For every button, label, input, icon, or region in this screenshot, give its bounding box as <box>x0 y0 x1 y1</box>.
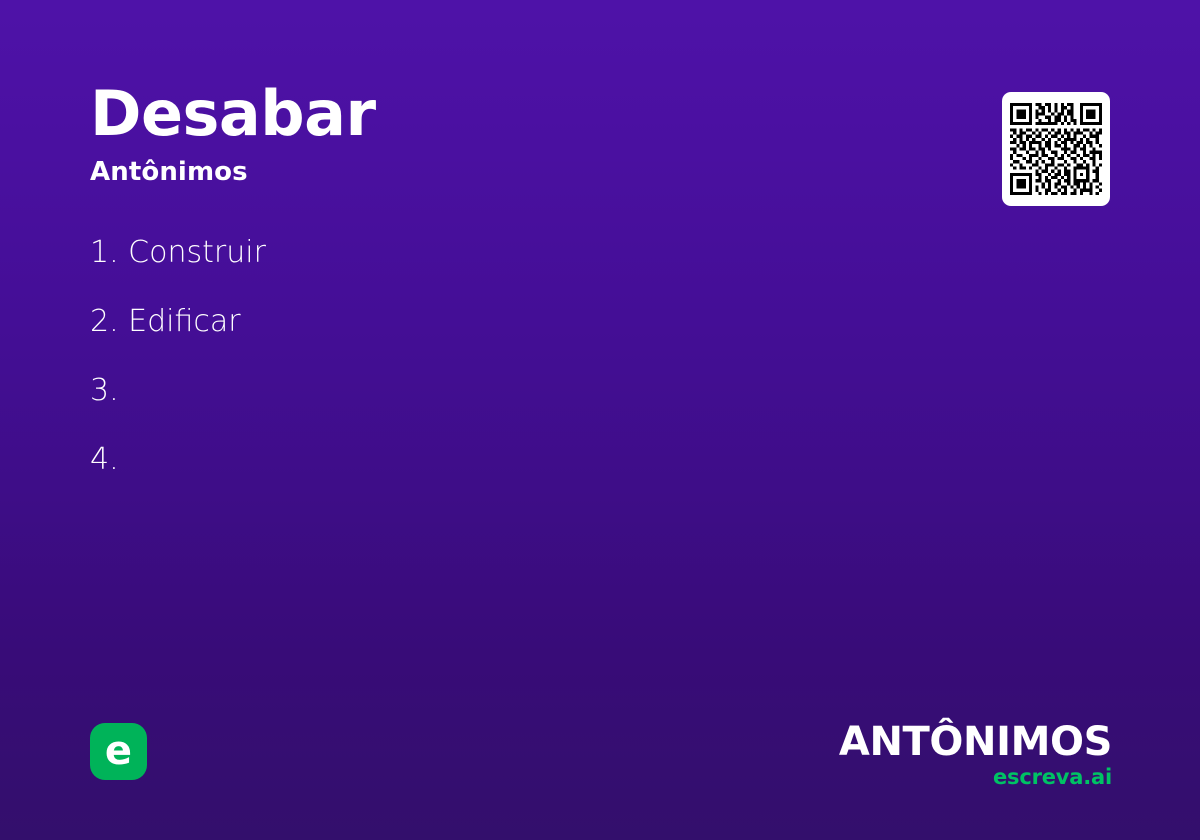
list-item: 1. Construir <box>90 236 266 269</box>
escreva-logo[interactable]: e <box>90 723 147 780</box>
list-item-index: 2. <box>90 304 119 339</box>
word-header: Desabar Antônimos <box>90 82 376 187</box>
list-item: 2. Edificar <box>90 305 266 338</box>
list-item-index: 1. <box>90 235 119 270</box>
qr-code-icon <box>1010 103 1102 195</box>
list-item-index: 3. <box>90 373 119 408</box>
list-item-text: Construir <box>128 235 266 270</box>
category-label: Antônimos <box>90 157 376 187</box>
page-title: Desabar <box>90 82 376 145</box>
brand-wordmark-subtitle: escreva.ai <box>839 767 1112 788</box>
brand-wordmark-title: ANTÔNIMOS <box>839 722 1112 762</box>
list-item-text: Edificar <box>128 304 240 339</box>
escreva-logo-letter: e <box>105 731 132 771</box>
antonym-card: Desabar Antônimos 1. Construir 2. Edific… <box>0 0 1200 840</box>
list-item: 4. <box>90 443 266 476</box>
list-item: 3. <box>90 374 266 407</box>
qr-code[interactable] <box>1002 92 1110 206</box>
antonym-list: 1. Construir 2. Edificar 3. 4. <box>90 236 266 512</box>
brand-wordmark: ANTÔNIMOS escreva.ai <box>839 722 1112 788</box>
list-item-index: 4. <box>90 442 119 477</box>
